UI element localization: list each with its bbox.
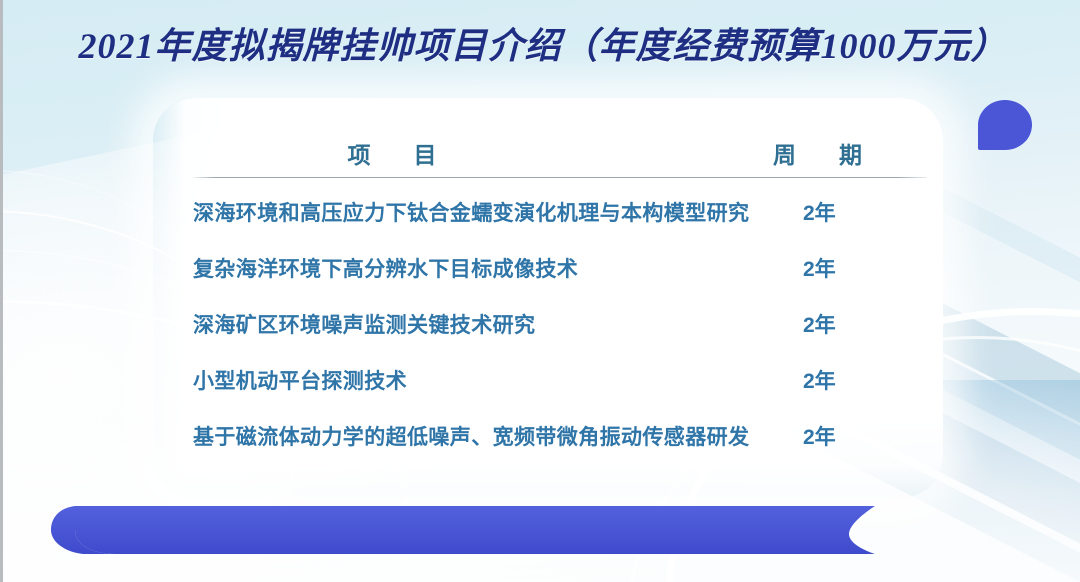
cell-period: 2年 <box>779 421 943 451</box>
slide-title: 2021年度拟揭牌挂帅项目介绍（年度经费预算1000万元） <box>78 17 1007 69</box>
table-header-row: 项 目 周 期 <box>153 98 943 170</box>
leaf-decoration-icon <box>978 100 1032 150</box>
table-row: 深海矿区环境噪声监测关键技术研究 2年 <box>153 296 943 352</box>
ribbon-shape-icon <box>3 492 1080 568</box>
project-table: 项 目 周 期 深海环境和高压应力下钛合金蠕变演化机理与本构模型研究 2年 复杂… <box>153 98 943 464</box>
cell-project: 复杂海洋环境下高分辨水下目标成像技术 <box>193 253 779 283</box>
table-body: 深海环境和高压应力下钛合金蠕变演化机理与本构模型研究 2年 复杂海洋环境下高分辨… <box>153 178 943 464</box>
table-row: 基于磁流体动力学的超低噪声、宽频带微角振动传感器研发 2年 <box>153 408 943 464</box>
cell-project: 小型机动平台探测技术 <box>193 365 779 395</box>
cell-period: 2年 <box>779 197 943 227</box>
bottom-ribbon <box>3 492 1080 568</box>
cell-period: 2年 <box>779 309 943 339</box>
cell-project: 深海环境和高压应力下钛合金蠕变演化机理与本构模型研究 <box>193 197 779 227</box>
cell-project: 深海矿区环境噪声监测关键技术研究 <box>193 309 779 339</box>
table-row: 小型机动平台探测技术 2年 <box>153 352 943 408</box>
slide-title-bar: 2021年度拟揭牌挂帅项目介绍（年度经费预算1000万元） <box>3 14 1080 72</box>
cell-period: 2年 <box>779 365 943 395</box>
table-row: 复杂海洋环境下高分辨水下目标成像技术 2年 <box>153 240 943 296</box>
column-header-period: 周 期 <box>761 136 943 170</box>
column-header-project: 项 目 <box>153 136 761 170</box>
slide-root: 2021年度拟揭牌挂帅项目介绍（年度经费预算1000万元） 项 目 周 期 深海… <box>0 0 1080 582</box>
cell-project: 基于磁流体动力学的超低噪声、宽频带微角振动传感器研发 <box>193 421 779 451</box>
cell-period: 2年 <box>779 253 943 283</box>
table-row: 深海环境和高压应力下钛合金蠕变演化机理与本构模型研究 2年 <box>153 184 943 240</box>
